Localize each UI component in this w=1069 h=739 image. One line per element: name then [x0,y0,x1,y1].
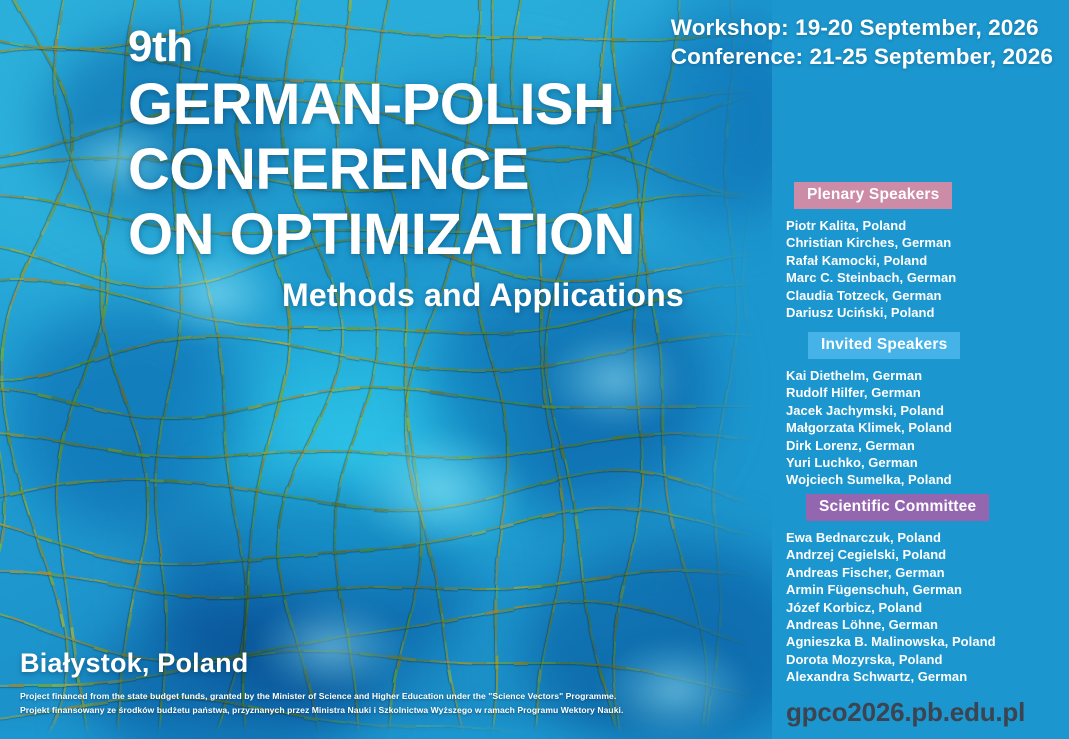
mesh-thread [402,364,416,368]
mesh-thread [332,375,338,390]
mesh-thread [285,361,289,375]
mesh-thread [360,357,374,362]
mesh-thread [405,361,407,375]
mesh-thread [304,326,318,328]
mesh-thread [0,194,10,197]
mesh-thread [495,627,497,641]
mesh-thread [495,613,498,627]
mesh-thread [304,391,318,396]
mesh-thread [361,403,368,418]
mesh-thread [633,529,638,543]
mesh-thread [0,278,10,280]
mesh-thread [480,0,482,11]
mesh-thread [7,305,13,320]
mesh-thread [0,445,2,459]
event-location: Białystok, Poland [20,648,248,679]
mesh-thread [405,347,407,361]
list-item: Armin Fügenschuh, German [786,581,1066,598]
mesh-thread [63,571,67,585]
mesh-thread [575,515,579,529]
mesh-thread [24,148,39,154]
mesh-thread [388,362,402,366]
mesh-thread [514,519,528,524]
mesh-thread [38,571,52,575]
mesh-thread [407,417,411,431]
section-scientific-committee: Scientific Committee Ewa Bednarczuk, Pol… [786,494,1066,686]
list-item: Marc C. Steinbach, German [786,269,1066,286]
mesh-thread [1,347,4,361]
mesh-thread [136,561,150,564]
conference-poster: Workshop: 19-20 September, 2026 Conferen… [0,0,1069,739]
mesh-thread [2,333,7,347]
mesh-thread [276,451,290,454]
mesh-thread [293,459,301,474]
mesh-thread [10,291,17,306]
mesh-thread [402,329,416,332]
mesh-thread [341,333,344,347]
mesh-thread [141,543,145,557]
plenary-speaker-list: Piotr Kalita, Poland Christian Kirches, … [786,217,1066,321]
mesh-thread [94,553,109,559]
mesh-thread [52,280,66,284]
mesh-thread [472,612,486,616]
water-caustic-highlight [355,430,525,550]
mesh-thread [10,162,24,166]
water-caustic-highlight [255,600,405,695]
mesh-thread [360,327,374,330]
mesh-thread [332,450,346,452]
mesh-thread [52,261,67,267]
mesh-thread [94,210,109,216]
mesh-thread [21,263,30,278]
mesh-thread [38,626,53,634]
mesh-thread [58,529,62,543]
mesh-thread [351,431,358,446]
mesh-thread [500,662,514,664]
funding-statement: Project financed from the state budget f… [20,689,623,717]
mesh-thread [10,48,24,52]
list-item: Dorota Mozyrska, Poland [786,651,1066,668]
list-item: Kai Diethelm, German [786,367,1066,384]
event-dates: Workshop: 19-20 September, 2026 Conferen… [671,13,1053,71]
mesh-thread [48,207,57,222]
mesh-thread [106,263,109,277]
mesh-thread [296,0,302,12]
list-item: Yuri Luchko, German [786,454,1066,471]
mesh-thread [365,389,371,404]
mesh-thread [16,473,22,488]
mesh-thread [342,459,348,474]
mesh-thread [486,610,500,615]
mesh-thread [0,432,10,435]
mesh-thread [288,347,292,361]
mesh-thread [374,386,388,389]
mesh-thread [416,329,430,333]
mesh-thread [13,459,19,474]
mesh-thread [290,326,304,328]
mesh-thread [38,535,53,542]
mesh-thread [80,549,94,555]
mesh-thread [472,662,486,664]
mesh-thread [492,0,495,11]
title-line-1: GERMAN-POLISH [128,72,684,137]
poster-title-block: 9th GERMAN-POLISH CONFERENCE ON OPTIMIZA… [128,22,684,314]
mesh-thread [444,661,458,664]
scientific-committee-list: Ewa Bednarczuk, Poland Andrzej Cegielski… [786,529,1066,686]
mesh-thread [80,271,95,278]
mesh-thread [1,361,3,375]
mesh-thread [4,501,7,515]
mesh-thread [416,388,430,392]
mesh-thread [52,585,59,600]
list-item: Alexandra Schwartz, German [786,668,1066,685]
mesh-thread [262,325,276,328]
mesh-thread [486,588,500,590]
mesh-thread [38,279,52,282]
mesh-thread [319,403,328,418]
mesh-thread [348,0,352,12]
mesh-thread [10,684,24,687]
mesh-thread [405,333,407,347]
water-caustic-highlight [545,330,685,430]
list-item: Agnieszka B. Malinowska, Poland [786,633,1066,650]
mesh-thread [290,344,304,348]
mesh-thread [612,507,626,509]
mesh-thread [0,39,10,44]
mesh-thread [528,515,542,520]
mesh-thread [52,684,66,687]
mesh-thread [356,417,362,432]
mesh-thread [472,588,486,591]
list-item: Dariusz Uciński, Poland [786,304,1066,321]
mesh-thread [38,198,52,202]
mesh-thread [66,47,80,50]
mesh-thread [56,599,62,614]
mesh-thread [2,515,6,529]
mesh-thread [346,386,360,390]
mesh-thread [66,683,80,685]
mesh-thread [267,431,273,446]
mesh-thread [563,529,565,543]
mesh-thread [377,333,379,347]
mesh-thread [500,607,514,612]
mesh-thread [458,662,472,664]
mesh-thread [10,278,24,280]
mesh-thread [179,0,183,11]
mesh-thread [44,53,54,68]
funding-line-polish: Projekt finansowany ze środków budżetu p… [20,703,623,717]
list-item: Claudia Totzeck, German [786,287,1066,304]
mesh-thread [20,10,30,25]
workshop-dates: Workshop: 19-20 September, 2026 [671,13,1053,42]
mesh-thread [416,366,430,370]
mesh-thread [0,684,10,686]
mesh-thread [500,587,514,590]
mesh-thread [360,386,374,389]
mesh-thread [405,417,408,431]
mesh-thread [248,452,262,456]
mesh-thread [3,319,8,334]
mesh-thread [563,515,566,529]
mesh-thread [10,151,24,156]
mesh-thread [0,570,10,573]
mesh-thread [416,347,422,362]
badge-scientific-committee: Scientific Committee [806,494,989,521]
title-line-3: ON OPTIMIZATION [128,202,684,267]
mesh-thread [560,557,564,571]
mesh-thread [58,11,63,25]
mesh-thread [66,575,80,580]
badge-plenary-speakers: Plenary Speakers [794,182,952,209]
mesh-thread [102,263,105,277]
mesh-thread [514,586,528,589]
conference-dates: Conference: 21-25 September, 2026 [671,42,1053,71]
mesh-thread [332,327,346,329]
mesh-thread [104,235,108,249]
mesh-thread [373,361,378,375]
edition-ordinal: 9th [128,22,684,72]
mesh-thread [24,47,38,50]
mesh-thread [290,394,305,400]
mesh-thread [34,235,43,250]
mesh-thread [608,0,612,11]
mesh-thread [5,417,9,431]
mesh-thread [388,386,402,390]
mesh-thread [138,557,143,571]
list-item: Jacek Jachymski, Poland [786,402,1066,419]
mesh-thread [108,556,123,561]
mesh-thread [0,387,10,391]
mesh-thread [262,400,277,406]
mesh-thread [346,355,361,360]
mesh-thread [496,557,500,571]
mesh-thread [420,333,427,348]
mesh-thread [0,49,10,52]
mesh-thread [10,526,25,532]
list-item: Andrzej Cegielski, Poland [786,546,1066,563]
mesh-thread [613,0,617,11]
mesh-thread [24,196,38,200]
mesh-thread [248,337,262,341]
mesh-thread [132,0,137,11]
mesh-thread [66,282,80,287]
mesh-thread [38,46,52,49]
mesh-thread [495,641,497,655]
mesh-thread [136,588,150,592]
mesh-thread [262,339,276,343]
mesh-thread [318,327,332,330]
mesh-thread [332,352,346,357]
mesh-thread [38,256,53,263]
mesh-thread [304,450,318,453]
mesh-thread [290,450,304,452]
mesh-thread [318,349,332,354]
mesh-thread [66,266,81,273]
mesh-thread [271,417,277,432]
mesh-thread [336,361,341,375]
mesh-thread [0,154,10,158]
mesh-thread [108,279,123,285]
mesh-thread [375,347,379,361]
mesh-thread [0,459,4,473]
title-line-2: CONFERENCE [128,137,684,202]
mesh-thread [260,459,265,473]
mesh-thread [38,684,52,687]
mesh-thread [29,515,35,529]
mesh-thread [66,544,80,550]
mesh-thread [24,501,30,516]
mesh-thread [80,284,95,290]
mesh-thread [562,543,565,557]
mesh-thread [0,379,10,381]
mesh-thread [626,507,640,511]
mesh-thread [28,25,38,40]
list-item: Rudolf Hilfer, German [786,384,1066,401]
mesh-thread [388,328,402,330]
list-item: Małgorzata Klimek, Poland [786,419,1066,436]
mesh-thread [402,387,416,390]
mesh-thread [251,0,256,11]
mesh-thread [65,585,69,599]
mesh-thread [24,278,38,281]
list-item: Christian Kirches, German [786,234,1066,251]
mesh-thread [376,319,379,333]
mesh-thread [346,327,360,330]
mesh-thread [52,48,66,51]
mesh-thread [60,613,66,628]
mesh-thread [54,193,62,208]
mesh-thread [211,0,215,11]
mesh-thread [108,291,123,297]
mesh-thread [69,613,73,627]
mesh-thread [275,403,281,418]
mesh-thread [43,557,50,572]
list-item: Dirk Lorenz, German [786,437,1066,454]
mesh-thread [61,557,65,571]
list-item: Ewa Bednarczuk, Poland [786,529,1066,546]
mesh-thread [306,431,315,446]
mesh-thread [10,42,24,47]
mesh-thread [0,529,5,543]
conference-website-url[interactable]: gpco2026.pb.edu.pl [786,697,1025,728]
mesh-thread [24,684,38,686]
mesh-thread [144,529,148,543]
list-item: Wojciech Sumelka, Poland [786,471,1066,488]
mesh-thread [636,515,640,529]
list-item: Andreas Löhne, German [786,616,1066,633]
invited-speaker-list: Kai Diethelm, German Rudolf Hilfer, Germ… [786,367,1066,489]
mesh-thread [108,582,123,587]
mesh-thread [95,221,101,236]
mesh-thread [528,585,542,589]
mesh-thread [129,599,134,613]
list-item: Rafał Kamocki, Poland [786,252,1066,269]
mesh-thread [2,473,6,487]
mesh-thread [518,0,522,11]
mesh-thread [122,559,136,564]
mesh-thread [66,203,81,209]
mesh-thread [24,571,38,574]
list-item: Andreas Fischer, German [786,564,1066,581]
mesh-thread [304,346,318,350]
mesh-thread [56,25,60,39]
mesh-thread [24,160,38,163]
mesh-thread [406,389,410,403]
mesh-thread [38,543,45,558]
mesh-thread [0,543,3,558]
mesh-thread [3,403,7,417]
mesh-thread [0,164,10,168]
mesh-thread [514,605,528,609]
mesh-thread [10,570,24,573]
mesh-thread [448,669,453,683]
mesh-thread [41,221,50,236]
poster-subtitle: Methods and Applications [282,277,684,314]
mesh-thread [10,248,25,254]
section-invited-speakers: Invited Speakers Kai Diethelm, German Ru… [786,332,1066,489]
mesh-thread [54,53,57,67]
mesh-thread [106,221,110,235]
mesh-thread [318,450,332,452]
mesh-thread [10,616,25,623]
mesh-thread [157,529,161,543]
mesh-thread [24,621,39,628]
mesh-thread [578,543,581,557]
section-plenary-speakers: Plenary Speakers Piotr Kalita, Poland Ch… [786,182,1066,321]
mesh-thread [496,571,499,585]
mesh-thread [576,529,580,543]
funding-line-english: Project financed from the state budget f… [20,689,623,703]
mesh-thread [279,389,285,404]
mesh-thread [135,571,141,586]
mesh-thread [341,319,344,333]
mesh-thread [386,0,390,11]
mesh-thread [498,543,501,557]
badge-invited-speakers: Invited Speakers [808,332,960,359]
mesh-thread [496,669,499,683]
mesh-thread [276,326,290,329]
mesh-thread [2,389,5,403]
mesh-thread [542,512,557,518]
mesh-thread [67,599,71,613]
mesh-thread [80,577,94,581]
mesh-thread [57,515,60,529]
list-item: Józef Korbicz, Poland [786,599,1066,616]
mesh-thread [332,387,346,391]
mesh-thread [10,195,24,198]
list-item: Piotr Kalita, Poland [786,217,1066,234]
mesh-thread [282,375,288,390]
mesh-thread [94,579,108,584]
mesh-thread [60,0,65,11]
mesh-thread [313,417,322,432]
